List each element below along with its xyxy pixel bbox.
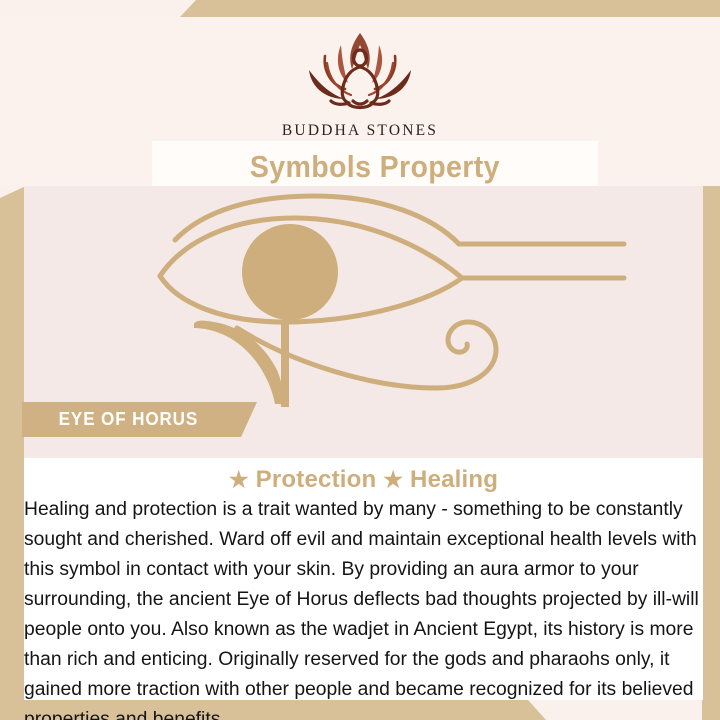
brand-name: BUDDHA STONES <box>0 122 720 140</box>
description-paragraph: Healing and protection is a trait wanted… <box>24 494 704 720</box>
eye-of-horus-icon <box>144 192 664 412</box>
star-icon-left: ★ <box>229 467 249 492</box>
top-accent-bar <box>0 0 720 17</box>
eye-cheek-marking <box>194 321 284 404</box>
page-title: Symbols Property <box>250 149 500 185</box>
symbol-name-banner: EYE OF HORUS <box>22 402 257 437</box>
brand-logo: BUDDHA STONES <box>0 23 720 140</box>
lotus-meditation-icon <box>285 23 435 121</box>
description-card: ★ Protection ★ Healing Healing and prote… <box>24 458 703 700</box>
infographic-page: BUDDHA STONES Symbols Property <box>0 0 720 720</box>
benefit-healing-label: Healing <box>410 466 498 493</box>
left-accent-bar <box>0 186 26 720</box>
star-icon-right: ★ <box>383 467 403 492</box>
eye-pupil <box>242 224 338 320</box>
benefit-protection-label: Protection <box>256 466 377 493</box>
symbol-name-label: EYE OF HORUS <box>59 409 198 430</box>
benefits-subtitle: ★ Protection ★ Healing <box>24 466 703 494</box>
page-header: BUDDHA STONES Symbols Property <box>0 17 720 186</box>
